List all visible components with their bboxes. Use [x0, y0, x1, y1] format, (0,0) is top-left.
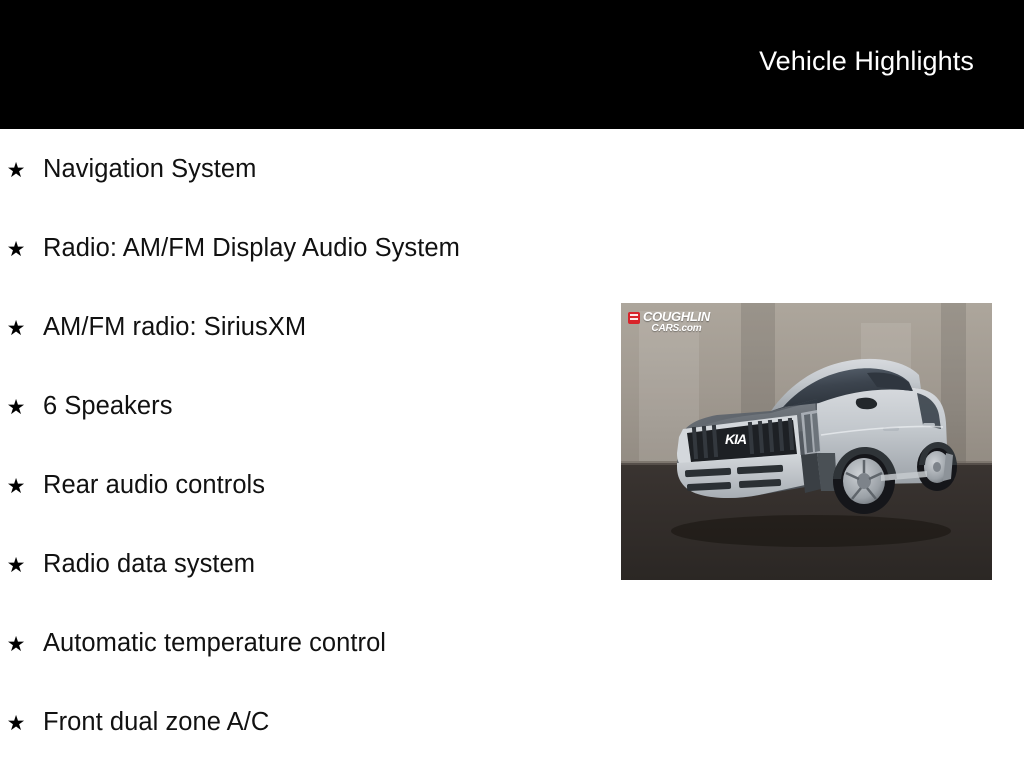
- list-item: ★ Radio: AM/FM Display Audio System: [0, 236, 460, 266]
- highlight-label: Navigation System: [43, 157, 256, 183]
- highlight-label: AM/FM radio: SiriusXM: [43, 315, 306, 341]
- star-bullet-icon: ★: [0, 397, 32, 418]
- highlight-label: 6 Speakers: [43, 394, 173, 420]
- highlight-label: Radio: AM/FM Display Audio System: [43, 236, 460, 262]
- star-bullet-icon: ★: [0, 239, 32, 260]
- page-header: Vehicle Highlights: [0, 0, 1024, 129]
- star-bullet-icon: ★: [0, 634, 32, 655]
- list-item: ★ Navigation System: [0, 157, 256, 187]
- star-bullet-icon: ★: [0, 555, 32, 576]
- list-item: ★ AM/FM radio: SiriusXM: [0, 315, 306, 345]
- vehicle-highlights-page: Vehicle Highlights ★ Navigation System ★…: [0, 0, 1024, 768]
- list-item: ★ Rear audio controls: [0, 473, 265, 503]
- highlight-label: Radio data system: [43, 552, 255, 578]
- list-item: ★ 6 Speakers: [0, 394, 173, 424]
- page-title: Vehicle Highlights: [759, 46, 1024, 77]
- star-bullet-icon: ★: [0, 476, 32, 497]
- star-bullet-icon: ★: [0, 160, 32, 181]
- vehicle-highlights-list: ★ Navigation System ★ Radio: AM/FM Displ…: [0, 129, 600, 768]
- highlight-label: Rear audio controls: [43, 473, 265, 499]
- highlight-label: Automatic temperature control: [43, 631, 386, 657]
- vehicle-photo: KIA: [621, 303, 992, 580]
- list-item: ★ Radio data system: [0, 552, 255, 582]
- kia-badge-icon: KIA: [725, 431, 747, 447]
- star-bullet-icon: ★: [0, 713, 32, 734]
- vehicle-photo-illustration: KIA: [621, 303, 992, 580]
- highlight-label: Front dual zone A/C: [43, 710, 269, 736]
- list-item: ★ Front dual zone A/C: [0, 710, 269, 740]
- star-bullet-icon: ★: [0, 318, 32, 339]
- svg-text:KIA: KIA: [725, 431, 747, 447]
- list-item: ★ Automatic temperature control: [0, 631, 386, 661]
